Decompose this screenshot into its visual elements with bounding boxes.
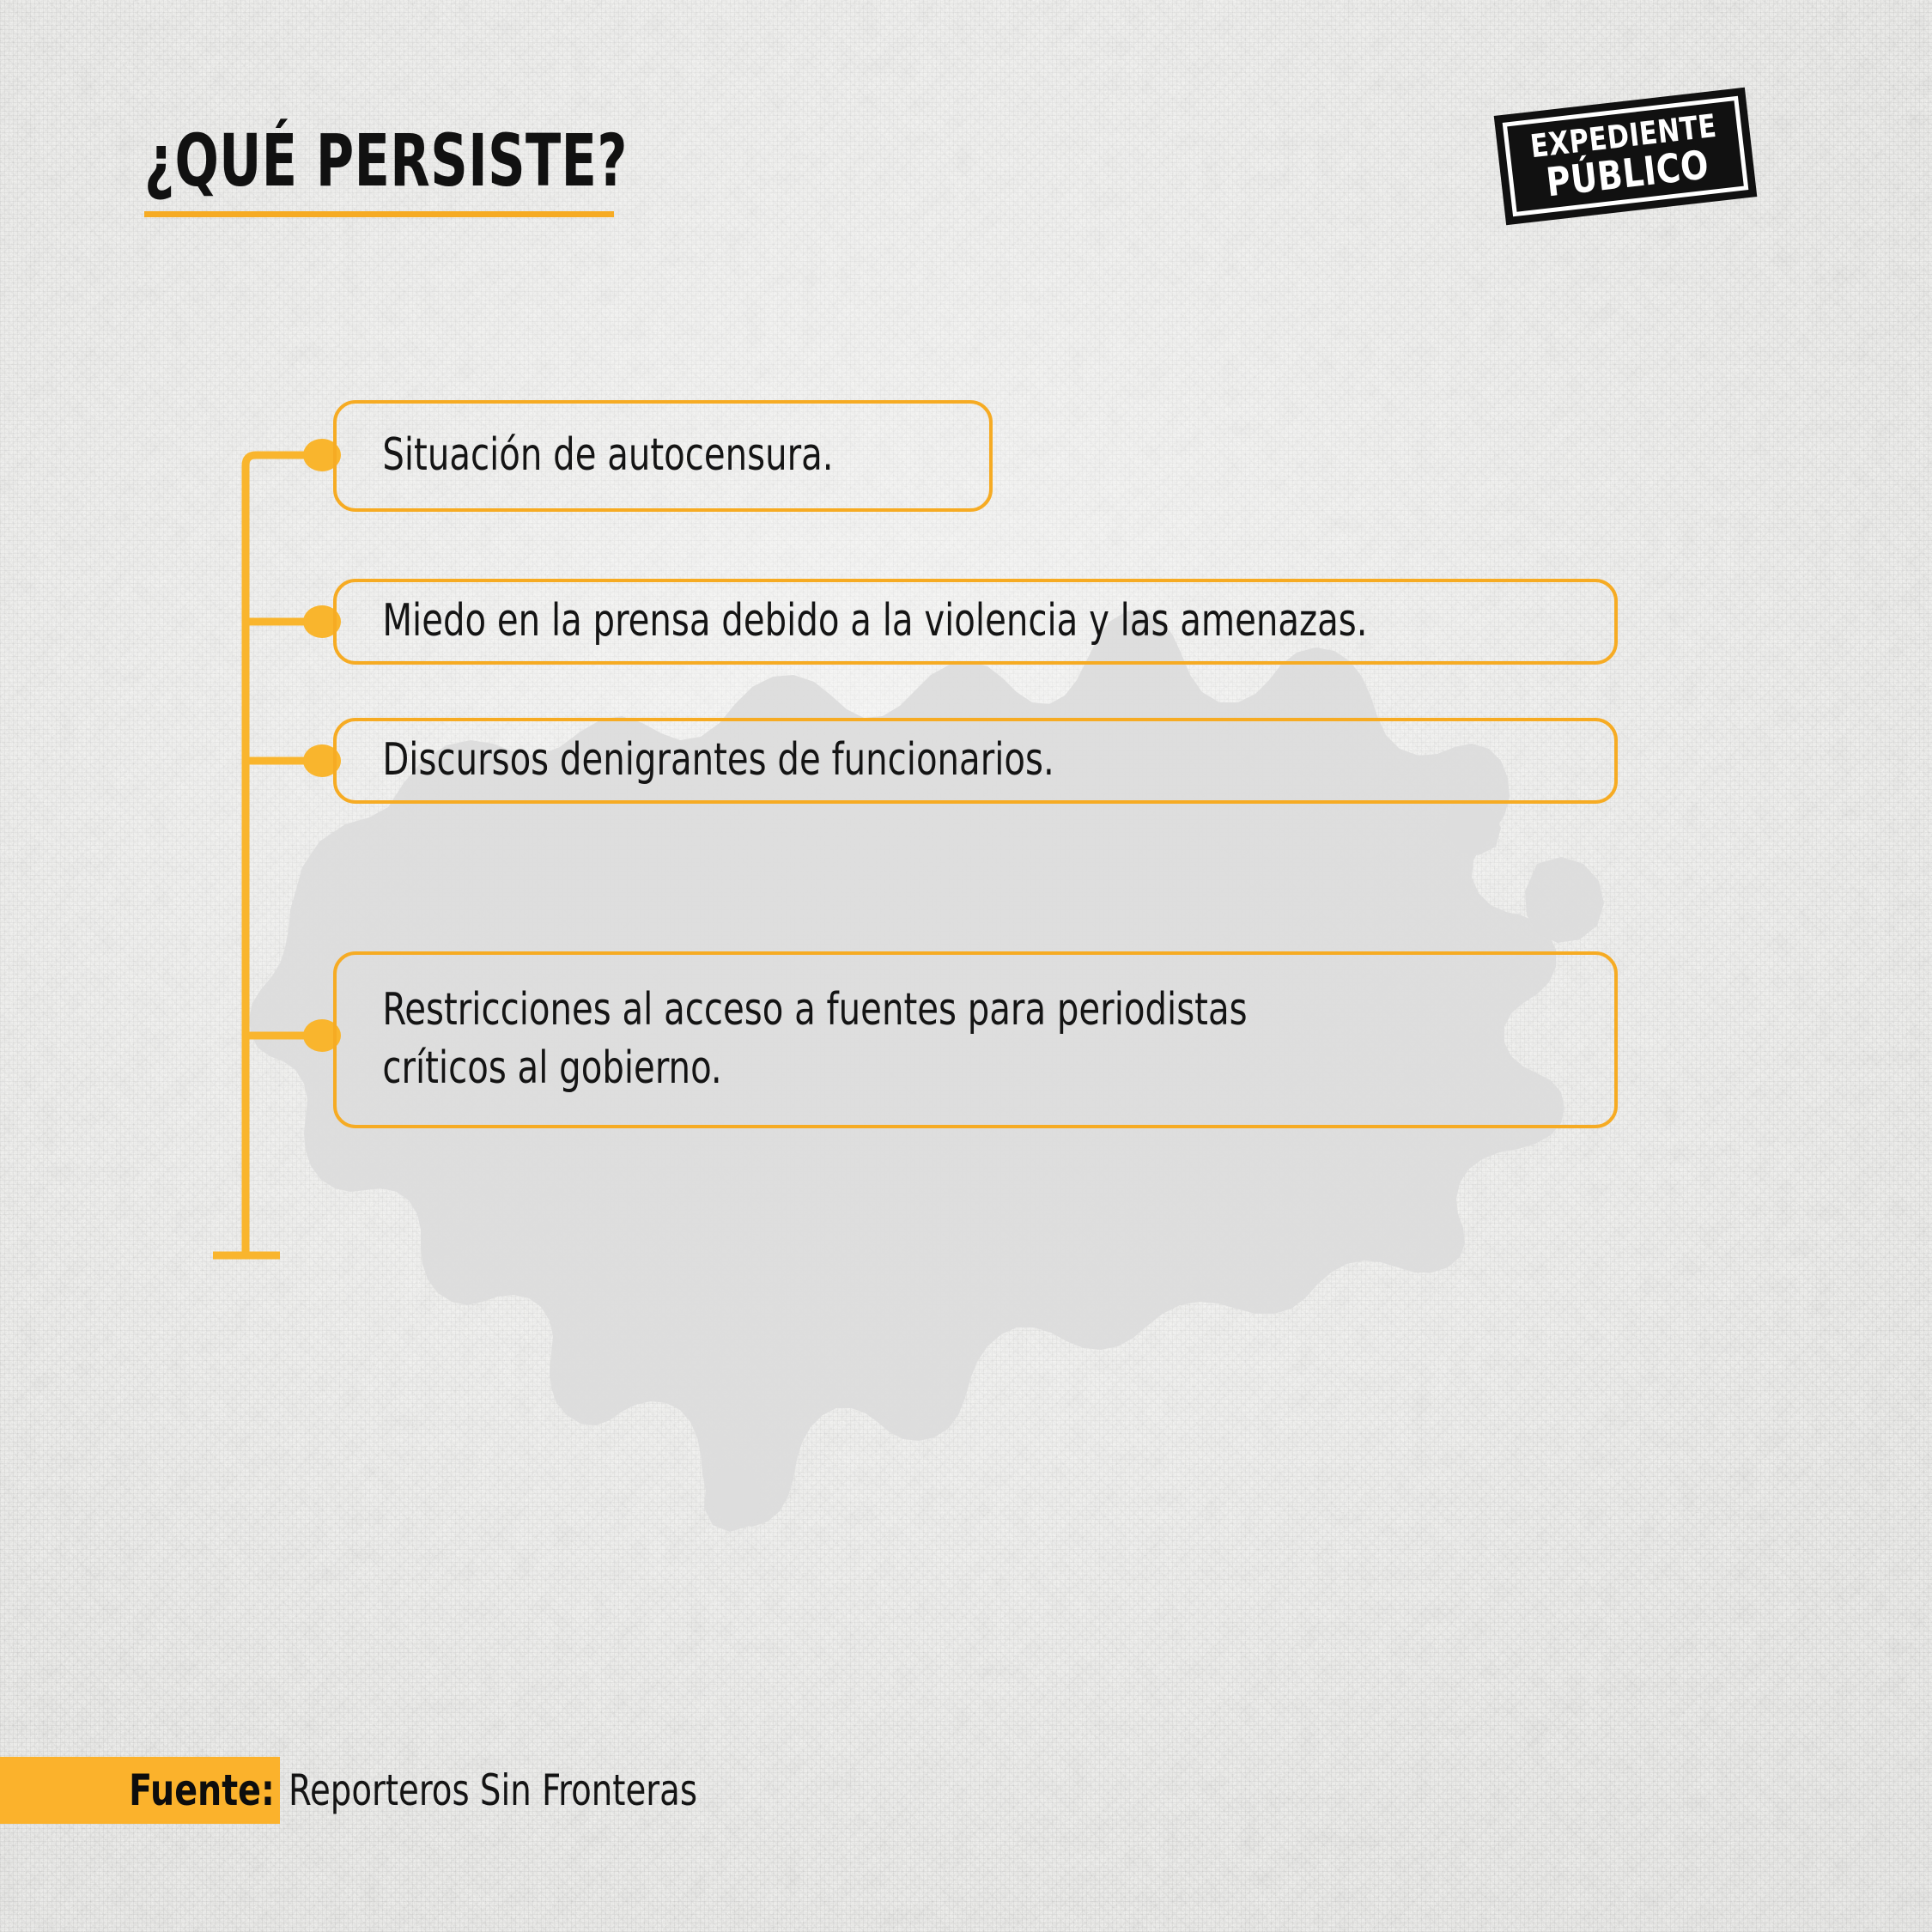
footer-label-chip: Fuente: xyxy=(0,1757,280,1824)
list-item-box-2[interactable]: Miedo en la prensa debido a la violencia… xyxy=(333,579,1618,665)
footer-source-name: Reporteros Sin Fronteras xyxy=(289,1765,697,1815)
logo-stamp-frame: EXPEDIENTE PÚBLICO xyxy=(1503,96,1749,217)
footer-label: Fuente: xyxy=(129,1765,275,1815)
list-item-text: Situación de autocensura. xyxy=(337,427,860,485)
list-item-text: Discursos denigrantes de funcionarios. xyxy=(337,732,1081,790)
list-item-text: Miedo en la prensa debido a la violencia… xyxy=(337,592,1394,651)
infographic-canvas: ¿QUÉ PERSISTE? EXPEDIENTE PÚBLICO xyxy=(0,0,1932,1932)
footer-source-bar: Fuente: Reporteros Sin Fronteras xyxy=(0,1757,764,1824)
list-item-text: Restricciones al acceso a fuentes para p… xyxy=(337,981,1274,1097)
page-title-block: ¿QUÉ PERSISTE? xyxy=(144,127,749,217)
list-item-box-4[interactable]: Restricciones al acceso a fuentes para p… xyxy=(333,951,1618,1128)
title-underline-rule xyxy=(144,211,614,217)
page-title: ¿QUÉ PERSISTE? xyxy=(144,127,628,196)
list-item-box-1[interactable]: Situación de autocensura. xyxy=(333,400,993,512)
list-item-box-3[interactable]: Discursos denigrantes de funcionarios. xyxy=(333,718,1618,804)
